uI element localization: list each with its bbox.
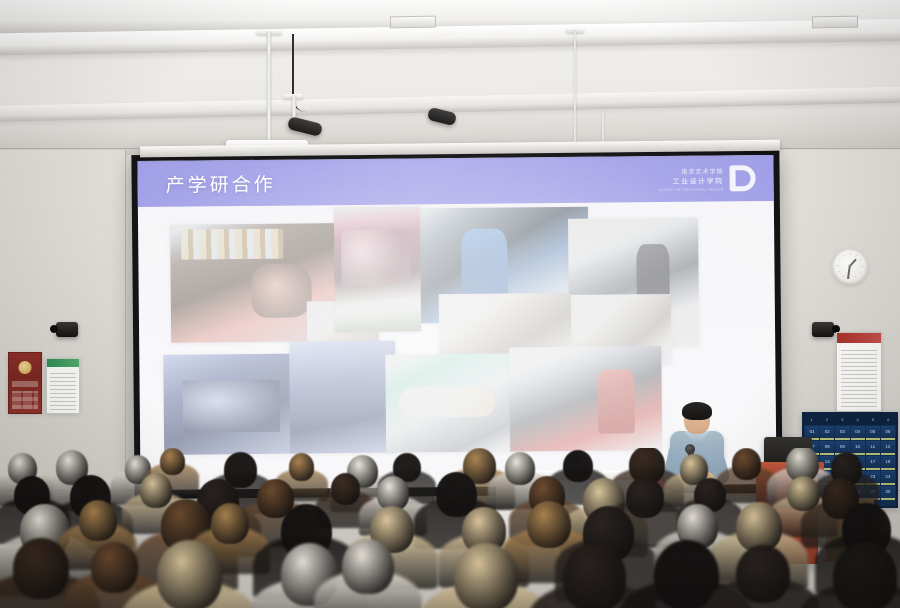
ceiling-vent (390, 16, 436, 29)
logo-d-mark-icon (729, 165, 755, 191)
audience-head (454, 543, 518, 608)
wall-clock (832, 248, 868, 284)
school-logo: 南京艺术学院 工业设计学院 SCHOOL OF INDUSTRIAL DESIG… (658, 165, 756, 192)
grid-board-column-label: 1 (804, 414, 819, 425)
poster-title-band (12, 381, 38, 387)
audience-head (527, 501, 571, 549)
slide-title: 产学研合作 (166, 169, 276, 197)
logo-line2: 工业设计学院 (673, 176, 724, 186)
logo-text: 南京艺术学院 工业设计学院 SCHOOL OF INDUSTRIAL DESIG… (658, 166, 724, 192)
poster-red-notice-right (836, 332, 882, 412)
grid-board-cell: 03 (835, 426, 849, 440)
grid-board-column-label: 4 (850, 414, 865, 425)
poster-emblem-icon (19, 361, 32, 374)
grid-board-cell: 04 (851, 426, 865, 440)
poster-header-band (47, 359, 79, 367)
poster-body (12, 391, 38, 409)
audience-head (91, 542, 138, 593)
audience-head (211, 503, 249, 544)
poster-red-award (8, 352, 42, 414)
slide-header-band: 产学研合作 南京艺术学院 工业设计学院 SCHOOL OF INDUSTRIAL… (137, 155, 773, 207)
poster-body (50, 371, 76, 410)
logo-line1: 南京艺术学院 (681, 166, 723, 175)
audience-head (563, 543, 626, 608)
grid-board-cell: 02 (820, 426, 834, 440)
slide-photo (509, 346, 662, 451)
logo-line-en: SCHOOL OF INDUSTRIAL DESIGN (658, 187, 724, 192)
slide-photo (385, 353, 520, 452)
grid-board-cell: 05 (866, 426, 880, 440)
audience-head (833, 542, 898, 608)
grid-board-header: 123456 (804, 414, 896, 425)
poster-green-notice (46, 358, 80, 414)
left-wall-panel (0, 150, 126, 490)
audience-head (13, 538, 70, 599)
audience-head (79, 500, 117, 541)
audience-head (289, 453, 314, 480)
grid-board-column-label: 5 (865, 414, 880, 425)
slide-photo (289, 341, 396, 454)
clock-center-pin (849, 265, 852, 268)
audience-head (342, 539, 394, 595)
audience-head (626, 477, 664, 518)
grid-board-column-label: 3 (835, 414, 850, 425)
audience-head (160, 448, 185, 475)
lecture-hall-photo: 产学研合作 南京艺术学院 工业设计学院 SCHOOL OF INDUSTRIAL… (0, 0, 900, 608)
projector-pole (267, 32, 271, 142)
audience-head (140, 473, 172, 508)
audience-head (505, 452, 536, 485)
grid-board-cell: 06 (881, 426, 895, 440)
seated-audience (0, 448, 900, 608)
ceiling-vent (812, 16, 858, 29)
poster-body (841, 347, 877, 407)
audience-head (331, 473, 361, 505)
slide-photo (334, 206, 421, 332)
audience-head (157, 540, 223, 608)
audience-head (736, 545, 790, 603)
grid-board-column-label: 2 (819, 414, 834, 425)
slide-photo (163, 353, 302, 454)
poster-header-band (837, 333, 881, 343)
wall-camera (812, 322, 834, 337)
grid-board-column-label: 6 (881, 414, 896, 425)
audience-head (732, 448, 761, 479)
wall-camera (56, 322, 78, 337)
audience-head (563, 450, 593, 482)
presenter-hair (682, 402, 712, 420)
